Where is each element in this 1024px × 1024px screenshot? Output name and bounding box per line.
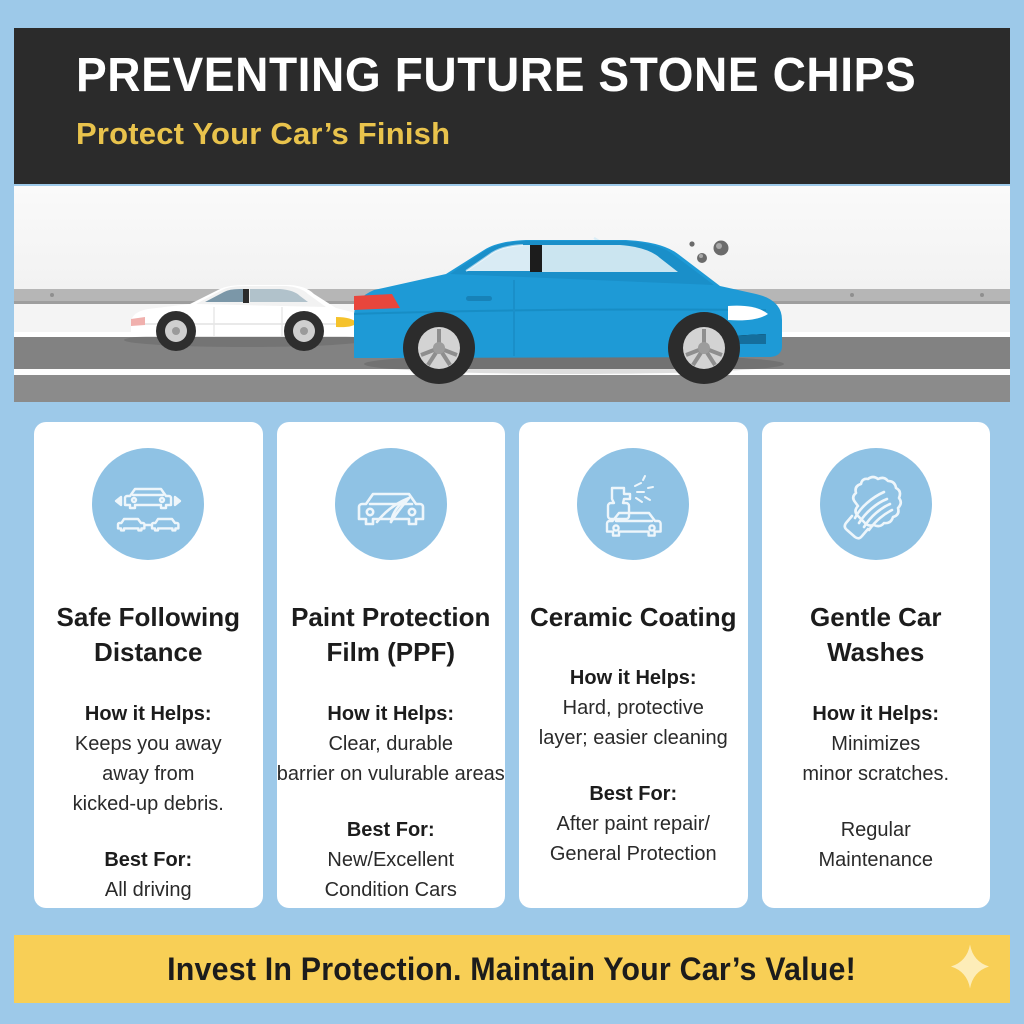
how-it-helps-label: How it Helps: bbox=[257, 699, 525, 729]
paint-protection-film-icon bbox=[335, 448, 447, 560]
sparkle-icon bbox=[950, 944, 990, 995]
card-title: Gentle Car Washes bbox=[765, 600, 986, 671]
how-it-helps-label: How it Helps: bbox=[14, 699, 282, 729]
best-for-block: Regular Maintenance bbox=[742, 815, 1010, 875]
tip-card-gentle-car-washes[interactable]: Gentle Car Washes How it Helps: Minimize… bbox=[762, 422, 991, 908]
how-it-helps-block: How it Helps: Hard, protective layer; ea… bbox=[499, 663, 767, 753]
how-it-helps-value: Hard, protective layer; easier cleaning bbox=[499, 693, 767, 753]
how-it-helps-value: Minimizes minor scratches. bbox=[742, 729, 1010, 789]
tip-card-paint-protection-film[interactable]: Paint Protection Film (PPF) How it Helps… bbox=[277, 422, 506, 908]
page-title: PREVENTING FUTURE STONE CHIPS bbox=[76, 50, 973, 102]
best-for-label: Best For: bbox=[257, 815, 525, 845]
best-for-block: Best For: New/Excellent Condition Cars bbox=[257, 815, 525, 905]
how-it-helps-block: How it Helps: Clear, durable barrier on … bbox=[257, 699, 525, 789]
how-it-helps-value: Keeps you away away from kicked-up debri… bbox=[14, 729, 282, 819]
how-it-helps-label: How it Helps: bbox=[742, 699, 1010, 729]
how-it-helps-block: How it Helps: Keeps you away away from k… bbox=[14, 699, 282, 819]
tip-card-ceramic-coating[interactable]: Ceramic Coating How it Helps: Hard, prot… bbox=[519, 422, 748, 908]
best-for-label: Best For: bbox=[499, 779, 767, 809]
footer-banner: Invest In Protection. Maintain Your Car’… bbox=[14, 935, 1010, 1003]
card-title: Paint Protection Film (PPF) bbox=[280, 600, 501, 671]
how-it-helps-label: How it Helps: bbox=[499, 663, 767, 693]
best-for-label: Best For: bbox=[14, 845, 282, 875]
best-for-value: All driving bbox=[14, 875, 282, 905]
tips-card-grid: Safe Following Distance How it Helps: Ke… bbox=[34, 422, 990, 908]
how-it-helps-value: Clear, durable barrier on vulurable area… bbox=[257, 729, 525, 789]
best-for-value: After paint repair/ General Protection bbox=[499, 809, 767, 869]
infographic-poster: PREVENTING FUTURE STONE CHIPS Protect Yo… bbox=[0, 0, 1024, 1024]
ceramic-coating-spray-icon bbox=[577, 448, 689, 560]
wash-mitt-icon bbox=[820, 448, 932, 560]
page-subtitle: Protect Your Car’s Finish bbox=[76, 116, 1010, 152]
best-for-block: Best For: After paint repair/ General Pr… bbox=[499, 779, 767, 869]
card-title: Ceramic Coating bbox=[523, 600, 744, 635]
best-for-value: New/Excellent Condition Cars bbox=[257, 845, 525, 905]
following-distance-icon bbox=[92, 448, 204, 560]
footer-cta-text: Invest In Protection. Maintain Your Car’… bbox=[168, 951, 857, 988]
best-for-block: Best For: All driving bbox=[14, 845, 282, 905]
header-banner: PREVENTING FUTURE STONE CHIPS Protect Yo… bbox=[14, 28, 1010, 184]
tip-card-safe-following-distance[interactable]: Safe Following Distance How it Helps: Ke… bbox=[34, 422, 263, 908]
best-for-value: Regular Maintenance bbox=[742, 815, 1010, 875]
card-title: Safe Following Distance bbox=[38, 600, 259, 671]
highway-illustration bbox=[14, 186, 1010, 402]
how-it-helps-block: How it Helps: Minimizes minor scratches. bbox=[742, 699, 1010, 789]
